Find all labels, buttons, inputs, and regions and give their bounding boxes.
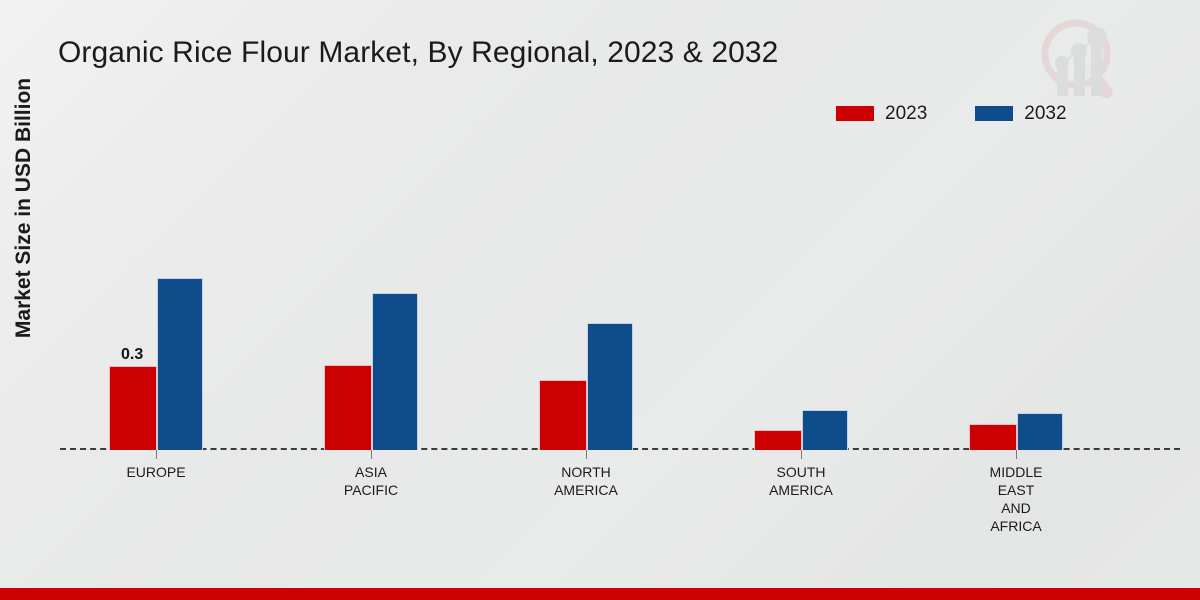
bar-group-north-america: NORTH AMERICA <box>539 150 633 450</box>
bar-2032-middle-east-and-africa[interactable] <box>1017 413 1063 450</box>
legend-swatch-icon-2032 <box>975 106 1013 121</box>
legend: 2023 2032 <box>836 104 1067 123</box>
legend-item-2023[interactable]: 2023 <box>836 104 927 123</box>
legend-item-2032[interactable]: 2032 <box>975 104 1066 123</box>
category-label-north-america: NORTH AMERICA <box>511 463 661 499</box>
bar-2032-europe[interactable] <box>157 278 203 450</box>
axis-tick-middle-east-and-africa <box>1016 450 1017 459</box>
magnifier-bar-chart-logo-icon <box>1032 16 1128 102</box>
bar-group-middle-east-and-africa: MIDDLE EAST AND AFRICA <box>969 150 1063 450</box>
bar-2023-middle-east-and-africa[interactable] <box>969 424 1017 450</box>
bar-2032-south-america[interactable] <box>802 410 848 450</box>
legend-label-2032: 2032 <box>1024 104 1066 123</box>
y-axis-title: Market Size in USD Billion <box>12 48 36 368</box>
bar-2023-europe[interactable] <box>109 366 157 450</box>
axis-tick-north-america <box>586 450 587 459</box>
bar-group-europe: 0.3 EUROPE <box>109 150 203 450</box>
footer-bar <box>0 588 1200 600</box>
bar-value-label-europe-2023: 0.3 <box>121 346 143 364</box>
chart-title: Organic Rice Flour Market, By Regional, … <box>58 36 778 70</box>
axis-tick-europe <box>156 450 157 459</box>
category-label-europe: EUROPE <box>81 463 231 481</box>
chart-canvas: Organic Rice Flour Market, By Regional, … <box>0 0 1200 600</box>
category-label-south-america: SOUTH AMERICA <box>726 463 876 499</box>
category-label-middle-east-and-africa: MIDDLE EAST AND AFRICA <box>941 463 1091 535</box>
bar-group-south-america: SOUTH AMERICA <box>754 150 848 450</box>
bar-2032-asia-pacific[interactable] <box>372 293 418 450</box>
category-label-asia-pacific: ASIA PACIFIC <box>296 463 446 499</box>
bar-group-asia-pacific: ASIA PACIFIC <box>324 150 418 450</box>
legend-label-2023: 2023 <box>885 104 927 123</box>
bar-2023-asia-pacific[interactable] <box>324 365 372 450</box>
axis-tick-south-america <box>801 450 802 459</box>
bar-2023-south-america[interactable] <box>754 430 802 450</box>
axis-tick-asia-pacific <box>371 450 372 459</box>
plot-area: 0.3 EUROPE ASIA PACIFIC NORTH AMERICA SO… <box>60 150 1180 450</box>
bar-2023-north-america[interactable] <box>539 380 587 450</box>
legend-swatch-icon-2023 <box>836 106 874 121</box>
bar-2032-north-america[interactable] <box>587 323 633 450</box>
